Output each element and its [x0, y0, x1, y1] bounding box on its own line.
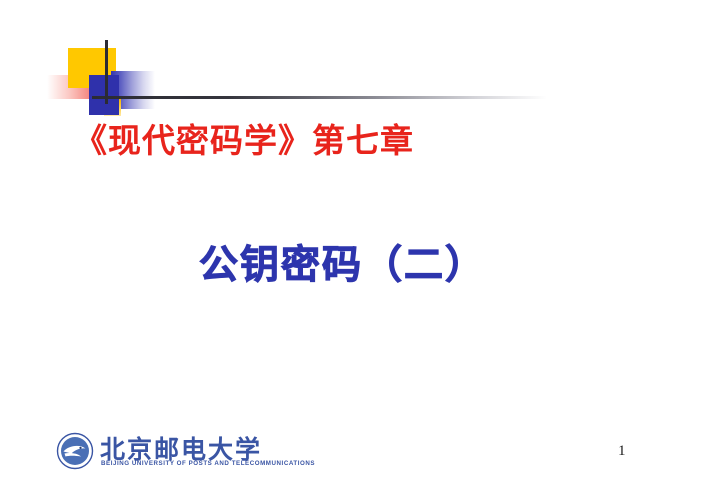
blue-square-shape	[89, 75, 119, 115]
header-decoration	[0, 0, 702, 130]
horizontal-rule	[92, 96, 547, 99]
chapter-title: 《现代密码学》第七章	[74, 121, 414, 161]
bupt-emblem-icon	[56, 432, 94, 470]
presentation-slide: 《现代密码学》第七章 公钥密码（二） 北京邮电大学 BEIJING UNIVER…	[0, 0, 702, 496]
page-number: 1	[618, 443, 626, 460]
university-name-english: BEIJING UNIVERSITY OF POSTS AND TELECOMM…	[101, 460, 315, 467]
university-logo: 北京邮电大学 BEIJING UNIVERSITY OF POSTS AND T…	[56, 430, 271, 476]
vertical-rule	[105, 40, 108, 104]
page-title: 公钥密码（二）	[199, 243, 486, 290]
